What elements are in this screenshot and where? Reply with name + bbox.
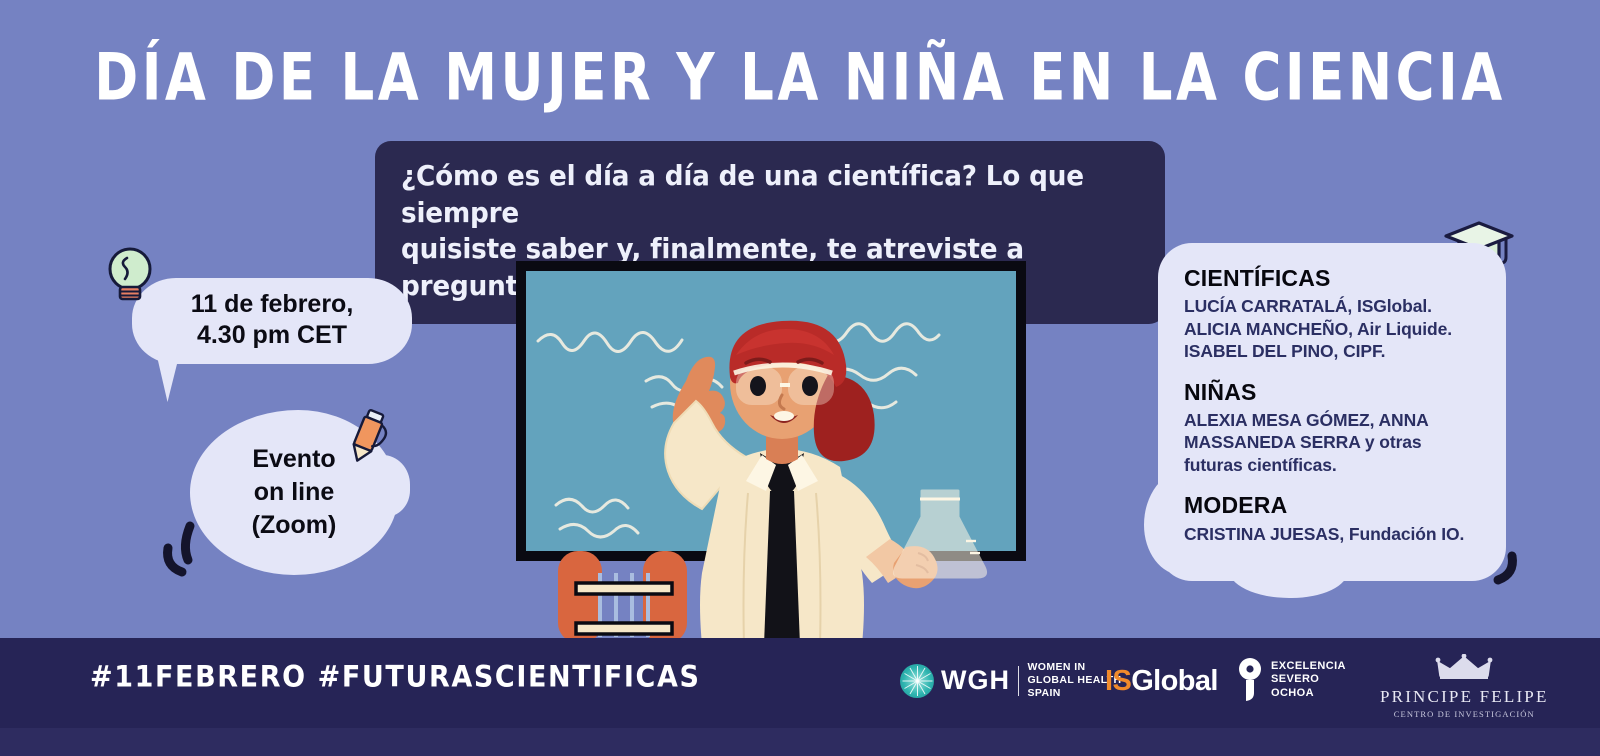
footer-bottom-strip	[0, 728, 1600, 756]
speaker-item: ALEXIA MESA GÓMEZ, ANNA	[1184, 409, 1482, 431]
principe-felipe-subtitle: CENTRO DE INVESTIGACIÓN	[1394, 709, 1535, 719]
speaker-item: ISABEL DEL PINO, CIPF.	[1184, 340, 1482, 362]
date-line-1: 11 de febrero,	[191, 289, 354, 320]
crown-icon	[1434, 654, 1494, 685]
mode-line-1: Evento	[252, 443, 337, 476]
hashtags: #11FEBRERO #FUTURASCIENTIFICAS	[90, 660, 701, 694]
isglobal-global: Global	[1131, 665, 1218, 698]
page-title: DÍA DE LA MUJER Y LA NIÑA EN LA CIENCIA	[0, 46, 1600, 111]
logo-wgh: WGH WOMEN IN GLOBAL HEALTH SPAIN	[900, 661, 1122, 700]
severo-ochoa-icon	[1235, 657, 1265, 703]
eso-line-3: OCHOA	[1271, 687, 1346, 700]
speaker-item: ALICIA MANCHEÑO, Air Liquide.	[1184, 318, 1482, 340]
logo-isglobal: IS Global	[1105, 665, 1218, 698]
sponsor-logos: WGH WOMEN IN GLOBAL HEALTH SPAIN IS Glob…	[900, 648, 1560, 724]
section-heading-cientificas: CIENTÍFICAS	[1184, 265, 1482, 291]
speaker-list-modera: CRISTINA JUESAS, Fundación IO.	[1184, 523, 1482, 545]
mode-line-2: on line	[252, 476, 337, 509]
logo-severo-ochoa: EXCELENCIA SEVERO OCHOA	[1235, 657, 1346, 703]
pen-icon	[340, 407, 396, 469]
section-heading-ninas: NIÑAS	[1184, 379, 1482, 405]
poster-canvas: DÍA DE LA MUJER Y LA NIÑA EN LA CIENCIA …	[0, 0, 1600, 756]
severo-ochoa-text: EXCELENCIA SEVERO OCHOA	[1271, 660, 1346, 700]
speaker-item: LUCÍA CARRATALÁ, ISGlobal.	[1184, 295, 1482, 317]
isglobal-is: IS	[1105, 665, 1131, 698]
speaker-item: CRISTINA JUESAS, Fundación IO.	[1184, 523, 1482, 545]
principe-felipe-name: PRINCIPE FELIPE	[1380, 687, 1549, 707]
speakers-panel: CIENTÍFICAS LUCÍA CARRATALÁ, ISGlobal. A…	[1158, 243, 1506, 581]
speaker-list-cientificas: LUCÍA CARRATALÁ, ISGlobal. ALICIA MANCHE…	[1184, 295, 1482, 362]
lightbulb-icon	[104, 245, 156, 305]
logo-principe-felipe: PRINCIPE FELIPE CENTRO DE INVESTIGACIÓN	[1380, 654, 1549, 719]
speaker-list-ninas: ALEXIA MESA GÓMEZ, ANNA MASSANEDA SERRA …	[1184, 409, 1482, 476]
mode-line-3: (Zoom)	[252, 509, 337, 542]
subtitle-line-1: ¿Cómo es el día a día de una científica?…	[401, 158, 1106, 231]
wgh-wordmark: WGH	[941, 665, 1010, 696]
date-bubble: 11 de febrero, 4.30 pm CET	[132, 278, 412, 364]
section-heading-modera: MODERA	[1184, 492, 1482, 518]
wgh-burst-icon	[900, 664, 934, 698]
speaker-item: MASSANEDA SERRA y otras	[1184, 431, 1482, 453]
speaker-item: futuras científicas.	[1184, 454, 1482, 476]
scientist-illustration	[498, 255, 1058, 655]
eso-line-1: EXCELENCIA	[1271, 660, 1346, 673]
eso-line-2: SEVERO	[1271, 673, 1346, 686]
date-line-2: 4.30 pm CET	[191, 320, 354, 351]
wgh-divider	[1018, 666, 1020, 696]
motion-marks-left	[158, 520, 228, 586]
